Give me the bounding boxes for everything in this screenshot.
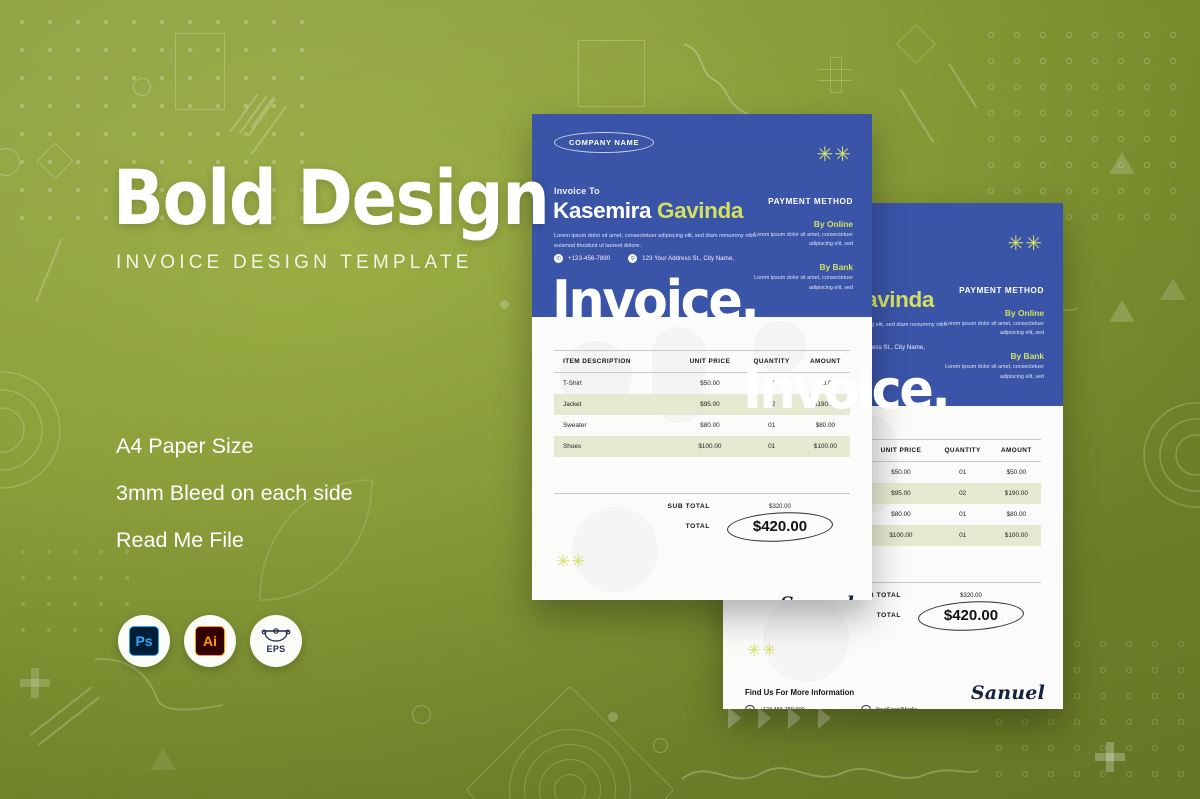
footer-social-value: YourSocialMedia bbox=[876, 707, 918, 709]
phone-icon: ✆ bbox=[554, 254, 563, 263]
payment-method-name: By Online bbox=[741, 219, 853, 229]
payment-method-name: By Bank bbox=[741, 262, 853, 272]
cell-quantity: 02 bbox=[934, 483, 992, 504]
eps-label: EPS bbox=[267, 644, 286, 654]
invoice-totals: SUB TOTAL $320.00 TOTAL $420.00 bbox=[554, 493, 850, 543]
total-value-wrap: $420.00 bbox=[901, 607, 1041, 624]
subtotal-label: SUB TOTAL bbox=[560, 503, 710, 510]
subtotal-row: SUB TOTAL $320.00 bbox=[554, 503, 850, 510]
cell-item: Jacket bbox=[554, 394, 677, 415]
payment-method-desc: Lorem ipsum dolor sit amet, consectetuer… bbox=[741, 274, 853, 292]
cell-quantity: 01 bbox=[934, 462, 992, 484]
illustrator-badge[interactable]: Ai bbox=[184, 615, 236, 667]
cell-amount: $100.00 bbox=[992, 525, 1041, 546]
asterisk-decoration-icon: ✳✳ bbox=[556, 553, 587, 570]
cell-unit-price: $50.00 bbox=[868, 462, 933, 484]
header-address: ⚲ 123 Your Address St., City Name, bbox=[628, 254, 734, 263]
payment-method-name: By Online bbox=[932, 308, 1044, 318]
subtotal-value: $320.00 bbox=[901, 593, 1041, 599]
invoice-intro-text: Lorem ipsum dolor sit amet, consectetuer… bbox=[554, 232, 769, 252]
social-icon: ◉ bbox=[861, 705, 871, 709]
signature-block: Sanuel Sanuel Jarogina Manager bbox=[780, 593, 854, 600]
feature-item: 3mm Bleed on each side bbox=[116, 481, 353, 506]
header-phone-value: +123-456-7890 bbox=[568, 255, 610, 262]
total-row: TOTAL $420.00 bbox=[745, 607, 1041, 624]
total-value-wrap: $420.00 bbox=[710, 518, 850, 535]
eps-badge[interactable]: EPS bbox=[250, 615, 302, 667]
cell-amount: $190.00 bbox=[992, 483, 1041, 504]
payment-method-title: PAYMENT METHOD bbox=[741, 197, 853, 206]
poster-canvas: COMPANY NAME ✳✳ Invoice To Kasemira Gavi… bbox=[0, 0, 1200, 799]
asterisk-decoration-icon: ✳✳ bbox=[747, 642, 778, 659]
payment-method-name: By Bank bbox=[932, 351, 1044, 361]
cell-unit-price: $95.00 bbox=[677, 394, 742, 415]
invoice-to-label: Invoice To bbox=[554, 186, 600, 196]
location-pin-icon: ⚲ bbox=[628, 254, 637, 263]
client-first-name: Kasemira bbox=[553, 198, 651, 223]
asterisk-decoration-icon: ✳✳ bbox=[1007, 234, 1043, 254]
cell-unit-price: $100.00 bbox=[677, 436, 742, 457]
column-header-quantity: QUANTITY bbox=[934, 440, 992, 462]
illustrator-icon: Ai bbox=[195, 626, 225, 656]
column-header-unit-price: UNIT PRICE bbox=[677, 351, 742, 373]
column-header-amount: AMOUNT bbox=[992, 440, 1041, 462]
feature-item: A4 Paper Size bbox=[116, 434, 253, 459]
invoice-headline: Invoice. bbox=[552, 274, 757, 328]
invoice-headline: Invoice. bbox=[743, 363, 948, 417]
cell-amount: $100.00 bbox=[801, 436, 850, 457]
signer-name: Sanuel Jarogina bbox=[971, 707, 1045, 709]
signature-mark: Sanuel bbox=[971, 682, 1045, 704]
total-ellipse-icon bbox=[726, 509, 833, 544]
payment-method-desc: Lorem ipsum dolor sit amet, consectetuer… bbox=[932, 363, 1044, 381]
cell-unit-price: $50.00 bbox=[677, 373, 742, 395]
asterisk-decoration-icon: ✳✳ bbox=[816, 145, 852, 165]
column-header-item: ITEM DESCRIPTION bbox=[554, 351, 677, 373]
cell-item: Shoes bbox=[554, 436, 677, 457]
cell-item: T-Shirt bbox=[554, 373, 677, 395]
header-contact-row: ✆ +123-456-7890 ⚲ 123 Your Address St., … bbox=[554, 254, 734, 263]
photoshop-icon: Ps bbox=[129, 626, 159, 656]
table-row: Shoes $100.00 01 $100.00 bbox=[554, 436, 850, 457]
cell-unit-price: $100.00 bbox=[868, 525, 933, 546]
cell-quantity: 01 bbox=[743, 436, 801, 457]
cell-amount: $50.00 bbox=[992, 462, 1041, 484]
total-ellipse-icon bbox=[917, 598, 1024, 633]
pen-tool-icon bbox=[261, 628, 291, 643]
footer-phone-value: +123 456 789 000 bbox=[760, 707, 805, 709]
photoshop-badge[interactable]: Ps bbox=[118, 615, 170, 667]
payment-method-desc: Lorem ipsum dolor sit amet, consectetuer… bbox=[741, 231, 853, 249]
invoice-card-front[interactable]: COMPANY NAME ✳✳ Invoice To Kasemira Gavi… bbox=[532, 114, 872, 600]
total-row: TOTAL $420.00 bbox=[554, 518, 850, 535]
payment-method-title: PAYMENT METHOD bbox=[932, 286, 1044, 295]
format-badges: Ps Ai EPS bbox=[118, 615, 302, 667]
cell-quantity: 01 bbox=[934, 504, 992, 525]
feature-item: Read Me File bbox=[116, 528, 244, 553]
payment-method-block: PAYMENT METHOD By Online Lorem ipsum dol… bbox=[741, 197, 853, 293]
signature-block: Sanuel Sanuel Jarogina Manager bbox=[971, 682, 1045, 709]
eps-icon: EPS bbox=[261, 628, 291, 654]
page-title: Bold Design bbox=[113, 160, 549, 236]
cell-unit-price: $95.00 bbox=[868, 483, 933, 504]
company-name-pill: COMPANY NAME bbox=[554, 132, 654, 153]
client-last-name: Gavinda bbox=[657, 198, 743, 223]
total-label: TOTAL bbox=[560, 523, 710, 530]
client-name: Kasemira Gavinda bbox=[553, 198, 743, 224]
total-label: TOTAL bbox=[751, 612, 901, 619]
signature-mark: Sanuel bbox=[780, 593, 854, 600]
phone-icon: ✆ bbox=[745, 705, 755, 709]
subtotal-value: $320.00 bbox=[710, 504, 850, 510]
header-address-value: 123 Your Address St., City Name, bbox=[642, 255, 734, 262]
payment-method-desc: Lorem ipsum dolor sit amet, consectetuer… bbox=[932, 320, 1044, 338]
cell-item: Sweater bbox=[554, 415, 677, 436]
column-header-unit-price: UNIT PRICE bbox=[868, 440, 933, 462]
cell-quantity: 01 bbox=[934, 525, 992, 546]
cell-amount: $80.00 bbox=[992, 504, 1041, 525]
payment-method-block: PAYMENT METHOD By Online Lorem ipsum dol… bbox=[932, 286, 1044, 382]
page-subtitle: INVOICE DESIGN TEMPLATE bbox=[116, 252, 473, 274]
header-phone: ✆ +123-456-7890 bbox=[554, 254, 610, 263]
cell-unit-price: $80.00 bbox=[868, 504, 933, 525]
footer-phone: ✆ +123 456 789 000 bbox=[745, 705, 861, 709]
cell-unit-price: $80.00 bbox=[677, 415, 742, 436]
